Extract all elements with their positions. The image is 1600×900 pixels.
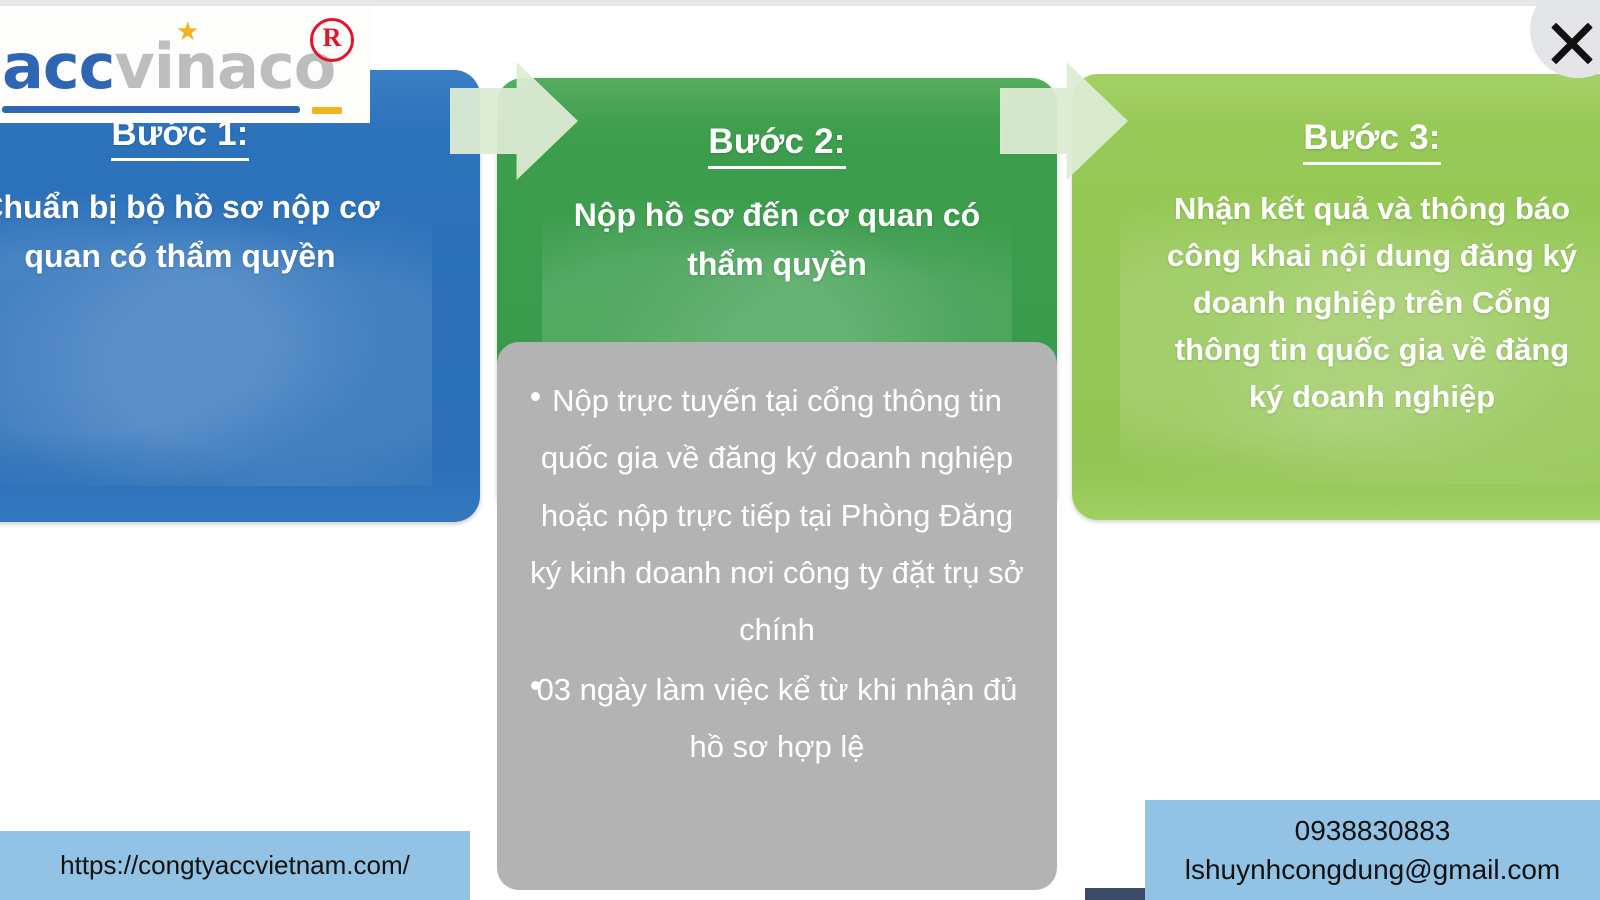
website-url-label: https://congtyaccvietnam.com/ (60, 850, 410, 881)
slide-canvas: Bước 1: Chuẩn bị bộ hồ sơ nộp cơ quan có… (0, 0, 1600, 900)
step-3-body: Nhận kết quả và thông báo công khai nội … (1098, 185, 1600, 421)
step-2-heading: Bước 2: (708, 122, 845, 169)
list-item: Nộp trực tuyến tại cổng thông tin quốc g… (523, 372, 1031, 659)
contact-info-bar[interactable]: 0938830883 lshuynhcongdung@gmail.com (1145, 800, 1600, 900)
registered-trademark-icon: R (310, 18, 354, 62)
logo-wordmark: accvinaco (2, 36, 335, 98)
brand-logo: accvinaco ★ R (0, 6, 370, 123)
step-2-detail-tooltip: Nộp trực tuyến tại cổng thông tin quốc g… (497, 342, 1057, 890)
website-url-bar[interactable]: https://congtyaccvietnam.com/ (0, 831, 470, 900)
contact-email: lshuynhcongdung@gmail.com (1145, 851, 1600, 890)
step-2-heading-wrap: Bước 2: (497, 78, 1057, 169)
step-3-heading: Bước 3: (1303, 118, 1440, 165)
footer-navy-accent (1085, 888, 1145, 900)
step-3-heading-wrap: Bước 3: (1072, 74, 1600, 165)
list-item: 03 ngày làm việc kể từ khi nhận đủ hồ sơ… (523, 661, 1031, 776)
list-item-label: 03 ngày làm việc kể từ khi nhận đủ hồ sơ… (537, 672, 1018, 764)
contact-phone: 0938830883 (1145, 812, 1600, 851)
bullet-icon (531, 681, 540, 690)
close-button[interactable] (1530, 0, 1600, 78)
close-icon (1546, 18, 1598, 70)
step-card-1: Bước 1: Chuẩn bị bộ hồ sơ nộp cơ quan có… (0, 70, 480, 522)
logo-accent-dash (312, 107, 342, 114)
star-icon: ★ (176, 18, 199, 44)
bullet-icon (531, 392, 540, 401)
step-card-3: Bước 3: Nhận kết quả và thông báo công k… (1072, 74, 1600, 520)
logo-text-vinaco: vinaco (114, 30, 335, 103)
step-2-body: Nộp hồ sơ đến cơ quan có thẩm quyền (523, 191, 1031, 288)
logo-text-acc: acc (2, 30, 114, 103)
logo-underline (2, 106, 300, 113)
tooltip-list: Nộp trực tuyến tại cổng thông tin quốc g… (523, 372, 1031, 775)
step-1-body: Chuẩn bị bộ hồ sơ nộp cơ quan có thẩm qu… (0, 183, 454, 280)
list-item-label: Nộp trực tuyến tại cổng thông tin quốc g… (530, 383, 1024, 647)
